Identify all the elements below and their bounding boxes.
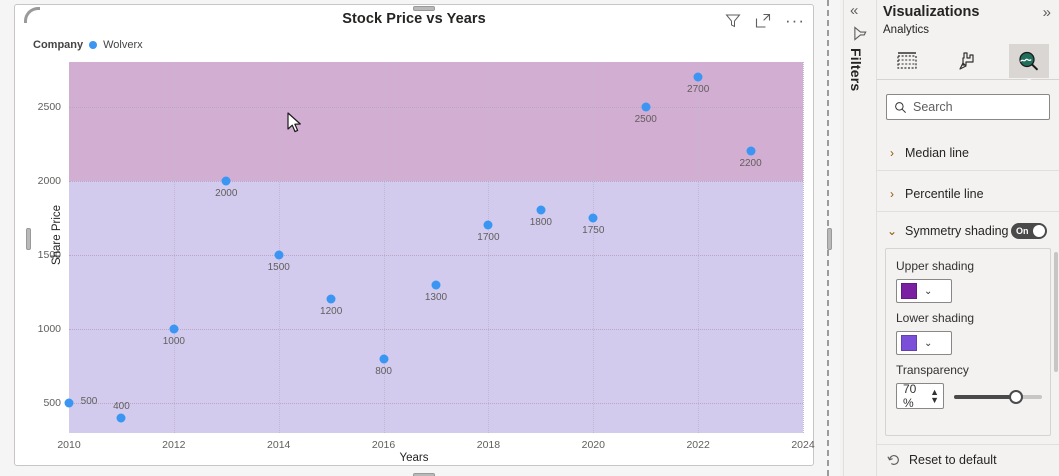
x-tick-2024: 2024 bbox=[791, 439, 814, 451]
gridline-y-2500 bbox=[69, 107, 803, 108]
gridline-y-1000 bbox=[69, 329, 803, 330]
data-point-label: 1750 bbox=[582, 225, 604, 236]
symmetry-shading-card: Upper shading ⌄ Lower shading ⌄ Transpar… bbox=[885, 248, 1051, 436]
x-tick-2016: 2016 bbox=[372, 439, 395, 451]
upper-shading-region bbox=[69, 62, 803, 181]
chevron-right-icon: › bbox=[887, 146, 897, 160]
y-tick-500: 500 bbox=[43, 397, 61, 409]
chevron-down-icon: ⌄ bbox=[924, 286, 932, 297]
gridline-x-2024 bbox=[803, 62, 804, 433]
data-point[interactable] bbox=[536, 206, 545, 215]
search-input[interactable]: Search bbox=[886, 94, 1050, 120]
data-point[interactable] bbox=[65, 399, 74, 408]
data-point[interactable] bbox=[484, 221, 493, 230]
section-symmetry-shading[interactable]: ⌄ Symmetry shading On bbox=[877, 213, 1059, 248]
section-percentile-line[interactable]: › Percentile line bbox=[877, 177, 1059, 212]
resize-handle-top[interactable] bbox=[413, 6, 435, 11]
gridline-x-2020 bbox=[593, 62, 594, 433]
scatter-chart-visual[interactable]: Stock Price vs Years ··· Company Wolverx bbox=[14, 4, 814, 466]
section-median-line[interactable]: › Median line bbox=[877, 136, 1059, 171]
data-point-label: 1300 bbox=[425, 292, 447, 303]
build-tab[interactable] bbox=[887, 44, 927, 78]
x-tick-2020: 2020 bbox=[582, 439, 605, 451]
slider-knob[interactable] bbox=[1009, 390, 1023, 404]
reset-to-default-button[interactable]: Reset to default bbox=[877, 444, 1059, 474]
analytics-subtitle: Analytics bbox=[883, 24, 929, 36]
x-axis-title: Years bbox=[15, 452, 813, 464]
data-point[interactable] bbox=[432, 280, 441, 289]
filter-funnel-icon[interactable] bbox=[853, 26, 868, 41]
search-placeholder: Search bbox=[913, 100, 953, 114]
lower-shading-color-picker[interactable]: ⌄ bbox=[896, 331, 952, 355]
y-tick-2000: 2000 bbox=[38, 175, 61, 187]
data-point-label: 800 bbox=[375, 366, 392, 377]
data-point-label: 400 bbox=[113, 401, 130, 412]
data-point-label: 1200 bbox=[320, 306, 342, 317]
filters-collapse-chevron-icon[interactable]: « bbox=[850, 2, 858, 19]
section-percentile-line-label: Percentile line bbox=[905, 187, 984, 201]
data-point[interactable] bbox=[746, 147, 755, 156]
y-tick-1000: 1000 bbox=[38, 323, 61, 335]
toggle-knob bbox=[1033, 225, 1045, 237]
y-tick-2500: 2500 bbox=[38, 101, 61, 113]
filters-pane-collapsed[interactable]: « Filters bbox=[843, 0, 877, 476]
toggle-state-label: On bbox=[1016, 226, 1029, 236]
visualizations-tabs[interactable] bbox=[877, 42, 1059, 80]
section-median-line-label: Median line bbox=[905, 146, 969, 160]
x-tick-2018: 2018 bbox=[477, 439, 500, 451]
data-point[interactable] bbox=[379, 354, 388, 363]
filters-pane-title: Filters bbox=[848, 48, 864, 91]
data-point[interactable] bbox=[117, 414, 126, 423]
gridline-y-1500 bbox=[69, 255, 803, 256]
visualizations-pane[interactable]: Visualizations » Analytics bbox=[877, 0, 1059, 476]
x-tick-2022: 2022 bbox=[686, 439, 709, 451]
lower-shading-swatch bbox=[901, 335, 917, 351]
transparency-stepper[interactable]: 70 % ▲▼ bbox=[896, 383, 944, 409]
data-point[interactable] bbox=[589, 213, 598, 222]
gridline-x-2012 bbox=[174, 62, 175, 433]
gridline-y-2000 bbox=[69, 181, 803, 182]
visualizations-header: Visualizations » bbox=[877, 0, 1059, 24]
section-symmetry-shading-label: Symmetry shading bbox=[905, 224, 1009, 238]
data-point-label: 1800 bbox=[530, 217, 552, 228]
resize-handle-right[interactable] bbox=[827, 228, 832, 250]
data-point-label: 2500 bbox=[635, 114, 657, 125]
analytics-tab[interactable] bbox=[1009, 44, 1049, 78]
y-axis-title: Share Price bbox=[51, 205, 63, 265]
resize-handle-left[interactable] bbox=[26, 228, 31, 250]
visualizations-title: Visualizations bbox=[883, 4, 979, 20]
data-point[interactable] bbox=[327, 295, 336, 304]
x-tick-2014: 2014 bbox=[267, 439, 290, 451]
data-point[interactable] bbox=[222, 176, 231, 185]
upper-shading-label: Upper shading bbox=[896, 259, 974, 273]
upper-shading-swatch bbox=[901, 283, 917, 299]
search-icon bbox=[894, 101, 907, 114]
format-tab[interactable] bbox=[948, 44, 988, 78]
upper-shading-color-picker[interactable]: ⌄ bbox=[896, 279, 952, 303]
lower-shading-region bbox=[69, 181, 803, 433]
gridline-y-500 bbox=[69, 403, 803, 404]
data-point[interactable] bbox=[641, 102, 650, 111]
slider-fill bbox=[954, 395, 1016, 399]
data-point-label: 2700 bbox=[687, 84, 709, 95]
gridline-x-2018 bbox=[488, 62, 489, 433]
analytics-magnifier-icon bbox=[1017, 50, 1040, 72]
gridline-x-2014 bbox=[279, 62, 280, 433]
revert-icon bbox=[887, 453, 901, 467]
data-point-label: 1500 bbox=[268, 262, 290, 273]
x-tick-2012: 2012 bbox=[162, 439, 185, 451]
paintbrush-icon bbox=[957, 50, 979, 72]
transparency-slider[interactable] bbox=[954, 395, 1042, 399]
gridline-x-2022 bbox=[698, 62, 699, 433]
plot-area-wrapper: 5004001000200015001200800130017001800175… bbox=[15, 5, 813, 465]
pane-scrollbar[interactable] bbox=[1054, 252, 1058, 372]
data-point-label: 2000 bbox=[215, 188, 237, 199]
lower-shading-label: Lower shading bbox=[896, 311, 974, 325]
chevron-right-icon: › bbox=[887, 187, 897, 201]
report-canvas[interactable]: Stock Price vs Years ··· Company Wolverx bbox=[0, 0, 840, 476]
gridline-x-2016 bbox=[384, 62, 385, 433]
data-point[interactable] bbox=[694, 72, 703, 81]
symmetry-shading-toggle[interactable]: On bbox=[1011, 223, 1047, 239]
transparency-value: 70 % bbox=[903, 382, 930, 410]
data-point-label: 1000 bbox=[163, 336, 185, 347]
data-point[interactable] bbox=[169, 325, 178, 334]
data-point-label: 1700 bbox=[477, 232, 499, 243]
data-point[interactable] bbox=[274, 250, 283, 259]
plot-area[interactable]: 5004001000200015001200800130017001800175… bbox=[69, 62, 803, 433]
data-point-label: 500 bbox=[81, 396, 98, 407]
chevron-down-icon: ⌄ bbox=[924, 338, 932, 349]
transparency-label: Transparency bbox=[896, 363, 969, 377]
data-point-label: 2200 bbox=[739, 158, 761, 169]
x-tick-2010: 2010 bbox=[57, 439, 80, 451]
fields-table-icon bbox=[896, 51, 918, 71]
reset-to-default-label: Reset to default bbox=[909, 453, 997, 467]
visualizations-expand-chevron-icon[interactable]: » bbox=[1043, 4, 1051, 21]
spinner-arrows-icon[interactable]: ▲▼ bbox=[930, 388, 939, 404]
chevron-down-icon: ⌄ bbox=[887, 224, 897, 238]
